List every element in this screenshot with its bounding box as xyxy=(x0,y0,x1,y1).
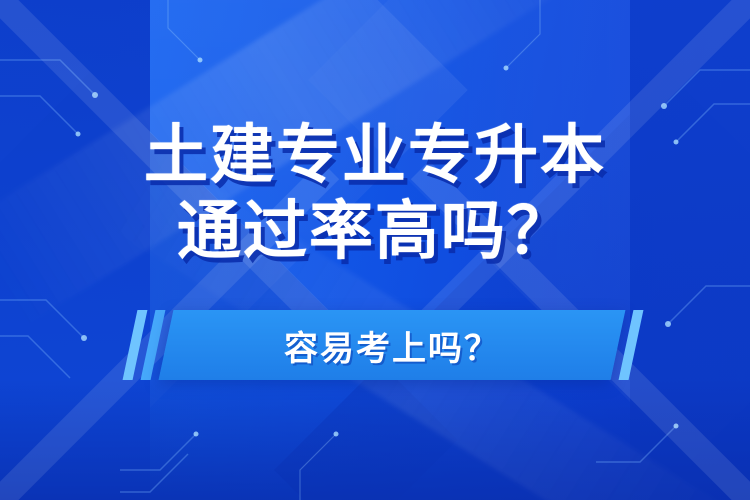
promo-banner: 土建专业专升本 通过率高吗？ 容易考上吗？ xyxy=(0,0,750,500)
headline: 土建专业专升本 通过率高吗？ xyxy=(0,118,750,270)
headline-line-2: 通过率高吗？ xyxy=(0,194,750,270)
subtitle-ribbon: 容易考上吗？ xyxy=(130,310,630,382)
headline-line-1: 土建专业专升本 xyxy=(0,118,750,194)
subtitle-text: 容易考上吗？ xyxy=(166,310,618,380)
